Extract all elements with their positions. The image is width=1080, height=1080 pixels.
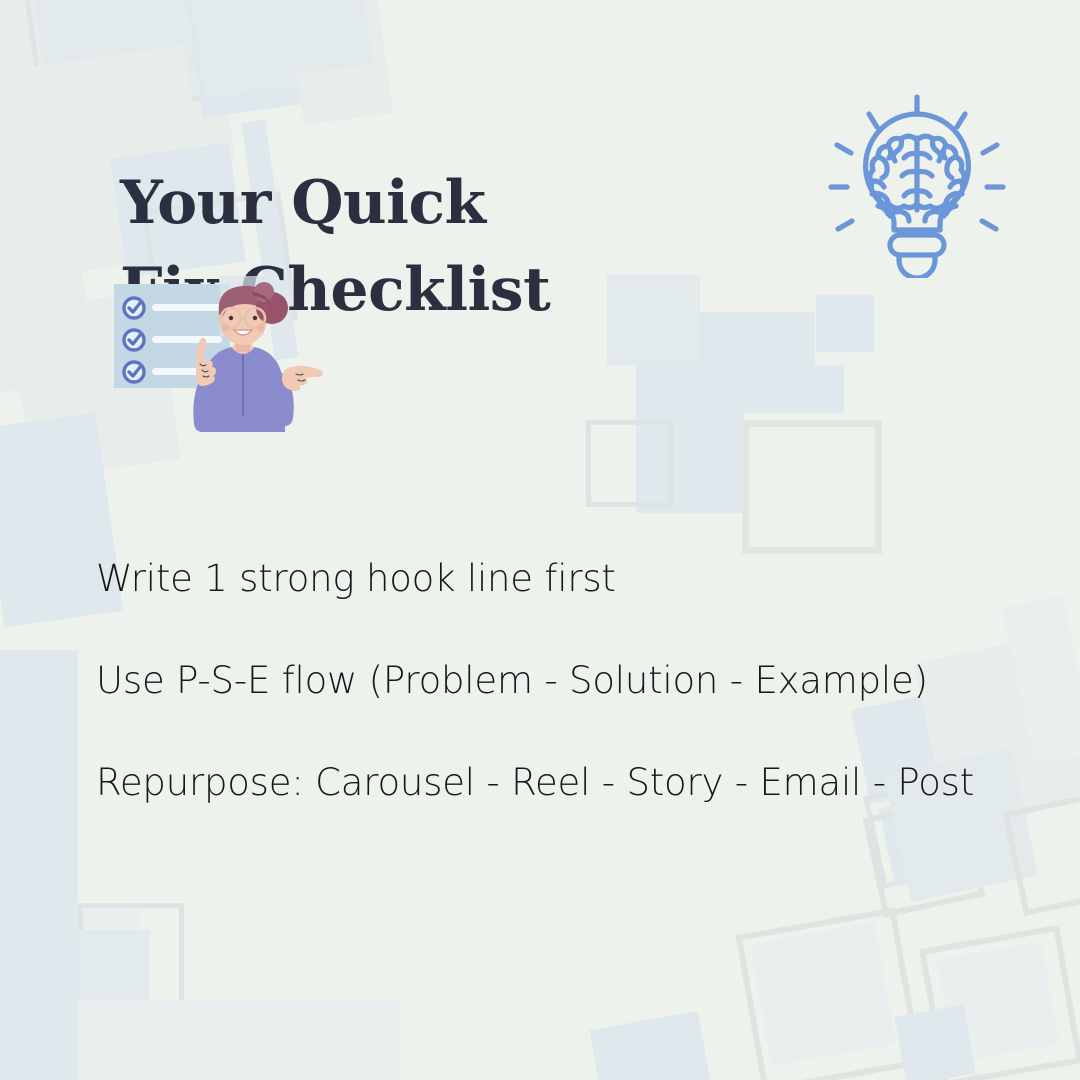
decor-square [937, 942, 1059, 1063]
list-item: Repurpose: Carousel - Reel - Story - Ema… [96, 764, 1026, 801]
decor-square [0, 650, 78, 1080]
decor-square [636, 363, 744, 513]
decor-square [879, 793, 970, 885]
decor-square [750, 922, 896, 1066]
decor-square [78, 1000, 328, 1080]
decor-square [175, 0, 332, 118]
decor-frame [735, 907, 922, 1080]
decor-square [0, 122, 97, 399]
list-item: Write 1 strong hook line first [96, 560, 1026, 597]
decor-frame [20, 0, 230, 122]
checklist-items: Write 1 strong hook line first Use P-S-E… [96, 560, 1026, 801]
decor-square [816, 295, 874, 352]
decor-square [636, 365, 844, 413]
decor-square [277, 0, 394, 125]
decor-square [894, 1004, 975, 1080]
decor-square [590, 1011, 713, 1080]
decor-square [31, 0, 218, 116]
decor-square [78, 930, 150, 1000]
decor-square [188, 0, 325, 98]
decor-frame [863, 796, 986, 917]
decor-frame [586, 420, 674, 507]
lightbulb-brain-icon [822, 88, 1012, 278]
decor-frame [1002, 790, 1080, 917]
decor-square [277, 0, 373, 75]
decor-frame [919, 925, 1080, 1080]
woman-checklist-illustration [112, 272, 326, 432]
poster-canvas: Your Quick Fix Checklist [0, 0, 1080, 1080]
decor-square [300, 1000, 400, 1080]
decor-square [78, 905, 138, 1080]
list-item: Use P-S-E flow (Problem - Solution - Exa… [96, 662, 1026, 699]
decor-frame [742, 420, 882, 554]
decor-frame [78, 903, 184, 1011]
